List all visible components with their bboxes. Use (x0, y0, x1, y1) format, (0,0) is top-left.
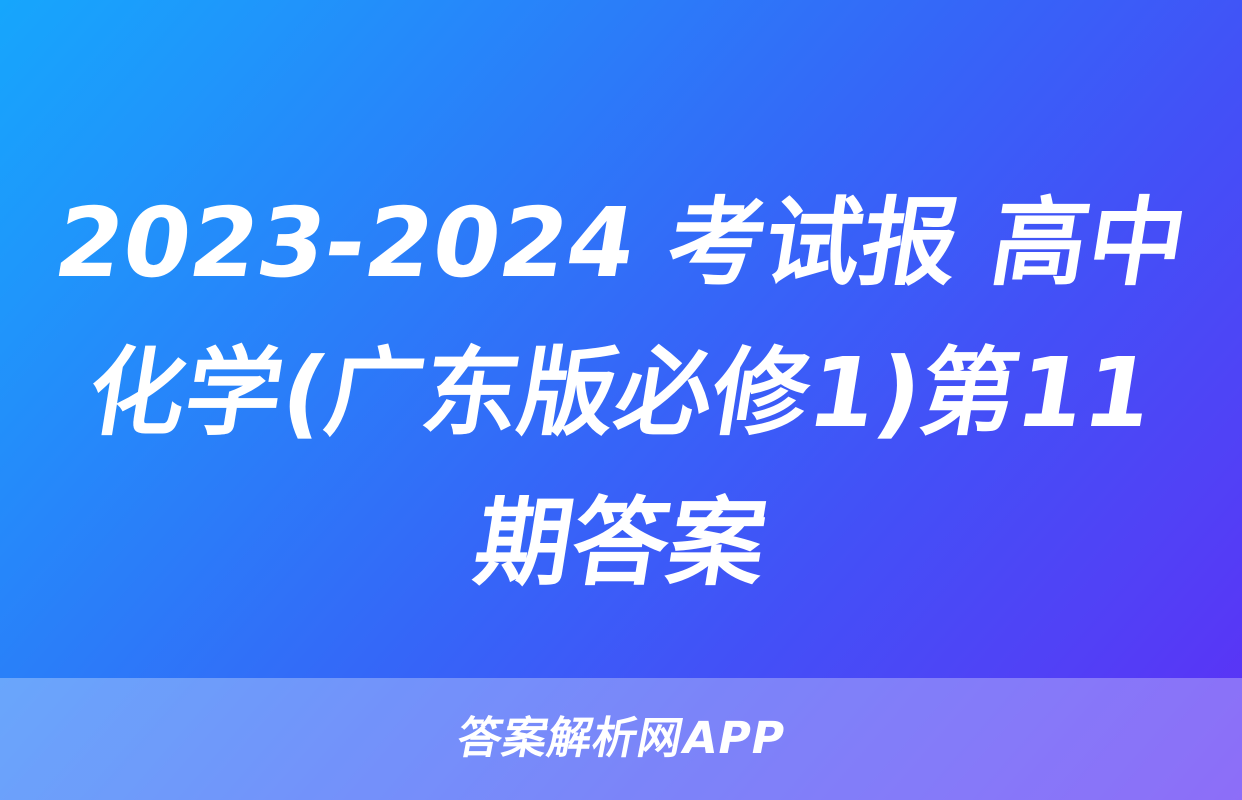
footer-band: 答案解析网APP (0, 678, 1242, 800)
title-line-1: 2023-2024 考试报 高中 (24, 168, 1218, 318)
title-line-2: 化学(广东版必修1)第11 (24, 318, 1218, 468)
poster-cover: 2023-2024 考试报 高中 化学(广东版必修1)第11 期答案 答案解析网… (0, 0, 1242, 800)
page-title: 2023-2024 考试报 高中 化学(广东版必修1)第11 期答案 (0, 168, 1242, 628)
app-brand-label: 答案解析网APP (453, 717, 788, 761)
title-line-3: 期答案 (24, 468, 1218, 618)
